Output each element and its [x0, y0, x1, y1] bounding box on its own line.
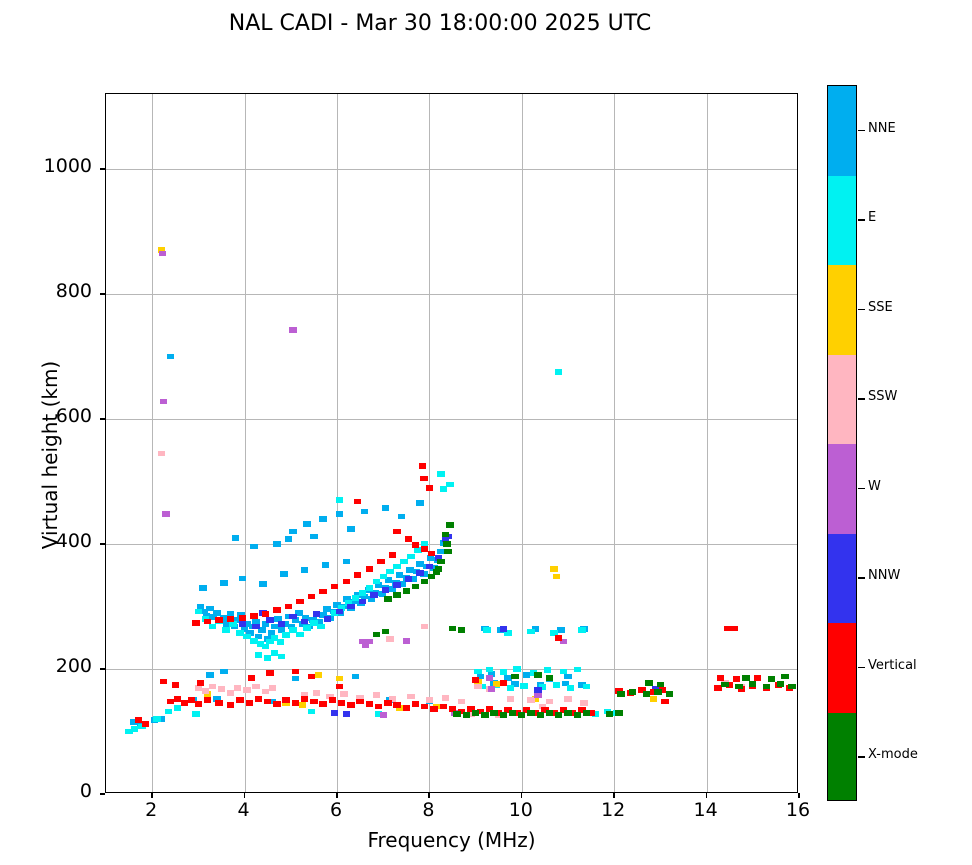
colorbar-tick [858, 488, 865, 490]
data-point [426, 697, 433, 703]
gridline-horizontal [106, 294, 797, 295]
data-point [393, 592, 400, 598]
colorbar-band-e[interactable] [828, 176, 856, 266]
data-point [412, 584, 419, 590]
data-point [354, 499, 361, 505]
data-point [359, 599, 366, 605]
data-point [343, 579, 350, 585]
data-point [289, 327, 296, 333]
data-point [420, 476, 427, 482]
data-point [472, 710, 479, 716]
data-point [373, 692, 380, 698]
colorbar-band-sse[interactable] [828, 265, 856, 355]
data-point [204, 697, 211, 703]
x-tick-label: 16 [768, 799, 828, 821]
data-point [458, 627, 465, 633]
data-point [463, 712, 470, 718]
data-point [278, 654, 285, 660]
x-tick-label: 10 [491, 799, 551, 821]
data-point [273, 541, 280, 547]
data-point [359, 590, 366, 596]
data-point [654, 689, 661, 695]
data-point [407, 694, 414, 700]
data-point [721, 682, 728, 688]
data-point [250, 544, 257, 550]
data-point [527, 710, 534, 716]
data-point [393, 529, 400, 535]
gridline-horizontal [106, 419, 797, 420]
data-point [352, 674, 359, 680]
x-tick-mark [428, 793, 430, 798]
data-point [310, 534, 317, 540]
data-point [277, 639, 284, 645]
data-point [259, 581, 266, 587]
data-point [199, 585, 206, 591]
data-point [544, 667, 551, 673]
data-point [280, 571, 287, 577]
colorbar-tick [858, 398, 865, 400]
colorbar-band-x-mode[interactable] [828, 713, 856, 802]
data-point [763, 684, 770, 690]
data-point [657, 682, 664, 688]
data-point [317, 624, 324, 630]
x-tick-label: 12 [583, 799, 643, 821]
data-point [308, 709, 315, 715]
data-point [250, 613, 257, 619]
x-tick-label: 4 [214, 799, 274, 821]
gridline-vertical [707, 94, 708, 792]
data-point [319, 516, 326, 522]
data-point [246, 700, 253, 706]
data-point [553, 682, 560, 688]
data-point [768, 676, 775, 682]
colorbar-tick [858, 130, 865, 132]
x-tick-mark [244, 793, 246, 798]
x-tick-label: 8 [398, 799, 458, 821]
data-point [336, 497, 343, 503]
data-point [546, 675, 553, 681]
data-point [574, 667, 581, 673]
data-point [324, 616, 331, 622]
data-point [243, 687, 250, 693]
ionogram-figure: NAL CADI - Mar 30 18:00:00 2025 UTC 2468… [0, 0, 972, 865]
data-point [580, 700, 587, 706]
data-point [319, 589, 326, 595]
data-point [282, 697, 289, 703]
y-tick-mark [100, 668, 105, 670]
data-point [666, 691, 673, 697]
colorbar-tick [858, 219, 865, 221]
gridline-horizontal [106, 669, 797, 670]
data-point [606, 711, 613, 717]
colorbar-label-sse: SSE [868, 300, 893, 315]
data-point [474, 669, 481, 675]
data-point [343, 559, 350, 565]
data-point [338, 700, 345, 706]
data-point [386, 569, 393, 575]
y-tick-mark [100, 293, 105, 295]
data-point [356, 699, 363, 705]
data-point [661, 699, 668, 705]
data-point [437, 471, 444, 477]
data-point [405, 536, 412, 542]
data-point [440, 486, 447, 492]
data-point [382, 505, 389, 511]
data-point [481, 712, 488, 718]
data-point [380, 574, 387, 580]
data-point [534, 672, 541, 678]
data-point [222, 627, 229, 633]
data-point [229, 621, 236, 627]
data-point [331, 584, 338, 590]
data-point [209, 684, 216, 690]
data-point [255, 696, 262, 702]
data-point [777, 681, 784, 687]
data-point [269, 685, 276, 691]
x-tick-mark [151, 793, 153, 798]
data-point [507, 696, 514, 702]
data-point [215, 617, 222, 623]
data-point [731, 626, 738, 632]
data-point [520, 683, 527, 689]
data-point [407, 554, 414, 560]
data-point [234, 685, 241, 691]
data-point [553, 574, 560, 580]
data-point [453, 711, 460, 717]
data-point [375, 704, 382, 710]
data-point [301, 567, 308, 573]
data-point [308, 674, 315, 680]
data-point [195, 609, 202, 615]
data-point [380, 712, 387, 718]
data-point [567, 685, 574, 691]
data-point [474, 684, 481, 690]
data-point [262, 644, 269, 650]
data-point [167, 354, 174, 360]
data-point [421, 624, 428, 630]
data-point [239, 621, 246, 627]
data-point [303, 625, 310, 631]
plot-area[interactable] [105, 93, 798, 793]
data-point [446, 482, 453, 488]
data-point [500, 712, 507, 718]
data-point [749, 681, 756, 687]
data-point [428, 551, 435, 557]
colorbar-tick [858, 667, 865, 669]
data-point [393, 564, 400, 570]
data-point [289, 529, 296, 535]
gridline-horizontal [106, 544, 797, 545]
data-point [583, 684, 590, 690]
colorbar-band-vertical[interactable] [828, 623, 856, 713]
colorbar-band-nne[interactable] [828, 86, 856, 176]
data-point [313, 611, 320, 617]
data-point [742, 675, 749, 681]
data-point [160, 679, 167, 685]
data-point [227, 702, 234, 708]
data-point [384, 596, 391, 602]
data-point [382, 629, 389, 635]
data-point [308, 594, 315, 600]
data-point [472, 677, 479, 683]
data-point [400, 559, 407, 565]
data-point [735, 684, 742, 690]
colorbar-tick [858, 309, 865, 311]
data-point [483, 627, 490, 633]
data-point [513, 666, 520, 672]
data-point [433, 569, 440, 575]
data-point [583, 710, 590, 716]
y-tick-mark [100, 418, 105, 420]
data-point [248, 675, 255, 681]
data-point [403, 705, 410, 711]
data-point [197, 680, 204, 686]
data-point [347, 702, 354, 708]
data-point [322, 562, 329, 568]
y-axis-label: Virtual height (km) [38, 255, 62, 655]
colorbar-label-nnw: NNW [868, 568, 900, 583]
data-point [550, 566, 557, 572]
y-tick-mark [100, 543, 105, 545]
data-point [336, 511, 343, 517]
data-point [285, 536, 292, 542]
data-point [347, 526, 354, 532]
data-point [239, 615, 246, 621]
data-point [564, 674, 571, 680]
data-point [204, 619, 211, 625]
data-point [403, 638, 410, 644]
x-tick-label: 6 [306, 799, 366, 821]
data-point [486, 675, 493, 681]
x-tick-label: 2 [121, 799, 181, 821]
data-point [236, 697, 243, 703]
data-point [754, 675, 761, 681]
data-point [430, 706, 437, 712]
x-axis-label: Frequency (MHz) [105, 828, 798, 852]
data-point [220, 580, 227, 586]
data-point [301, 696, 308, 702]
x-tick-mark [336, 793, 338, 798]
data-point [336, 609, 343, 615]
data-point [329, 697, 336, 703]
colorbar-tick [858, 756, 865, 758]
data-point [440, 704, 447, 710]
colorbar-label-ssw: SSW [868, 389, 897, 404]
data-point [153, 716, 160, 722]
data-point [264, 699, 271, 705]
data-point [303, 521, 310, 527]
data-point [218, 686, 225, 692]
data-point [347, 604, 354, 610]
data-point [650, 696, 657, 702]
data-point [500, 669, 507, 675]
colorbar-band-ssw[interactable] [828, 355, 856, 445]
x-tick-mark [798, 793, 800, 798]
colorbar-tick [858, 577, 865, 579]
data-point [645, 680, 652, 686]
data-point [266, 617, 273, 623]
data-point [195, 701, 202, 707]
data-point [386, 636, 393, 642]
data-point [507, 685, 514, 691]
gridline-vertical [152, 94, 153, 792]
data-point [262, 611, 269, 617]
data-point [292, 676, 299, 682]
data-point [285, 604, 292, 610]
colorbar-label-w: W [868, 479, 881, 494]
data-point [299, 702, 306, 708]
gridline-horizontal [106, 169, 797, 170]
data-point [158, 451, 165, 457]
data-point [301, 619, 308, 625]
data-point [393, 702, 400, 708]
data-point [273, 701, 280, 707]
data-point [555, 712, 562, 718]
data-point [643, 691, 650, 697]
data-point [421, 704, 428, 710]
data-point [252, 684, 259, 690]
data-point [165, 709, 172, 715]
data-point [292, 669, 299, 675]
data-point [555, 635, 562, 641]
data-point [546, 699, 553, 705]
data-point [534, 692, 541, 698]
data-point [717, 675, 724, 681]
data-point [220, 669, 227, 675]
data-point [617, 691, 624, 697]
data-point [162, 511, 169, 517]
data-point [362, 642, 369, 648]
data-point [215, 700, 222, 706]
data-point [266, 670, 273, 676]
data-point [490, 710, 497, 716]
data-point [382, 587, 389, 593]
data-point [366, 585, 373, 591]
x-tick-mark [706, 793, 708, 798]
data-point [340, 691, 347, 697]
gridline-vertical [429, 94, 430, 792]
data-point [458, 699, 465, 705]
data-point [564, 710, 571, 716]
data-point [366, 701, 373, 707]
data-point [160, 399, 167, 405]
data-point [331, 710, 338, 716]
data-point [361, 509, 368, 515]
data-point [192, 620, 199, 626]
data-point [488, 686, 495, 692]
y-tick-label: 0 [20, 780, 92, 802]
data-point [557, 627, 564, 633]
colorbar-band-nnw[interactable] [828, 534, 856, 624]
data-point [733, 676, 740, 682]
data-point [412, 701, 419, 707]
data-point [443, 541, 450, 547]
data-point [389, 552, 396, 558]
data-point [546, 710, 553, 716]
data-point [527, 697, 534, 703]
data-point [555, 369, 562, 375]
data-point [159, 251, 166, 257]
page-title: NAL CADI - Mar 30 18:00:00 2025 UTC [0, 11, 880, 36]
data-point [370, 592, 377, 598]
data-point [446, 522, 453, 528]
data-point [313, 690, 320, 696]
data-point [384, 700, 391, 706]
y-tick-mark [100, 168, 105, 170]
data-point [296, 599, 303, 605]
data-point [354, 572, 361, 578]
colorbar-band-w[interactable] [828, 444, 856, 534]
data-point [518, 712, 525, 718]
data-point [419, 463, 426, 469]
x-tick-label: 14 [676, 799, 736, 821]
data-point [227, 616, 234, 622]
data-point [343, 711, 350, 717]
y-tick-label: 1000 [20, 155, 92, 177]
x-tick-mark [521, 793, 523, 798]
data-point [442, 532, 449, 538]
data-point [373, 632, 380, 638]
data-point [192, 711, 199, 717]
data-point [310, 699, 317, 705]
data-point [574, 712, 581, 718]
colorbar-label-nne: NNE [868, 121, 896, 136]
data-point [564, 696, 571, 702]
data-point [315, 672, 322, 678]
data-point [500, 680, 507, 686]
data-point [444, 549, 451, 555]
data-point [336, 684, 343, 690]
data-point [273, 607, 280, 613]
data-point [560, 669, 567, 675]
data-point [421, 579, 428, 585]
colorbar[interactable] [827, 85, 857, 801]
data-point [292, 700, 299, 706]
data-point [534, 687, 541, 693]
data-point [578, 627, 585, 633]
data-point [509, 710, 516, 716]
data-point [366, 566, 373, 572]
data-point [398, 514, 405, 520]
data-point [442, 695, 449, 701]
colorbar-label-x-mode: X-mode [868, 747, 918, 762]
data-point [289, 614, 296, 620]
data-point [393, 582, 400, 588]
data-point [615, 710, 622, 716]
data-point [296, 632, 303, 638]
data-point [781, 674, 788, 680]
data-point [264, 655, 271, 661]
data-point [416, 570, 423, 576]
data-point [174, 705, 181, 711]
data-point [142, 721, 149, 727]
data-point [252, 624, 259, 630]
y-tick-label: 200 [20, 655, 92, 677]
data-point [227, 690, 234, 696]
x-tick-mark [613, 793, 615, 798]
data-point [511, 674, 518, 680]
data-point [319, 701, 326, 707]
data-point [377, 559, 384, 565]
colorbar-label-e: E [868, 210, 876, 225]
data-point [403, 588, 410, 594]
data-point [206, 672, 213, 678]
data-point [131, 726, 138, 732]
data-point [500, 626, 507, 632]
data-point [232, 535, 239, 541]
data-point [426, 485, 433, 491]
data-point [209, 624, 216, 630]
